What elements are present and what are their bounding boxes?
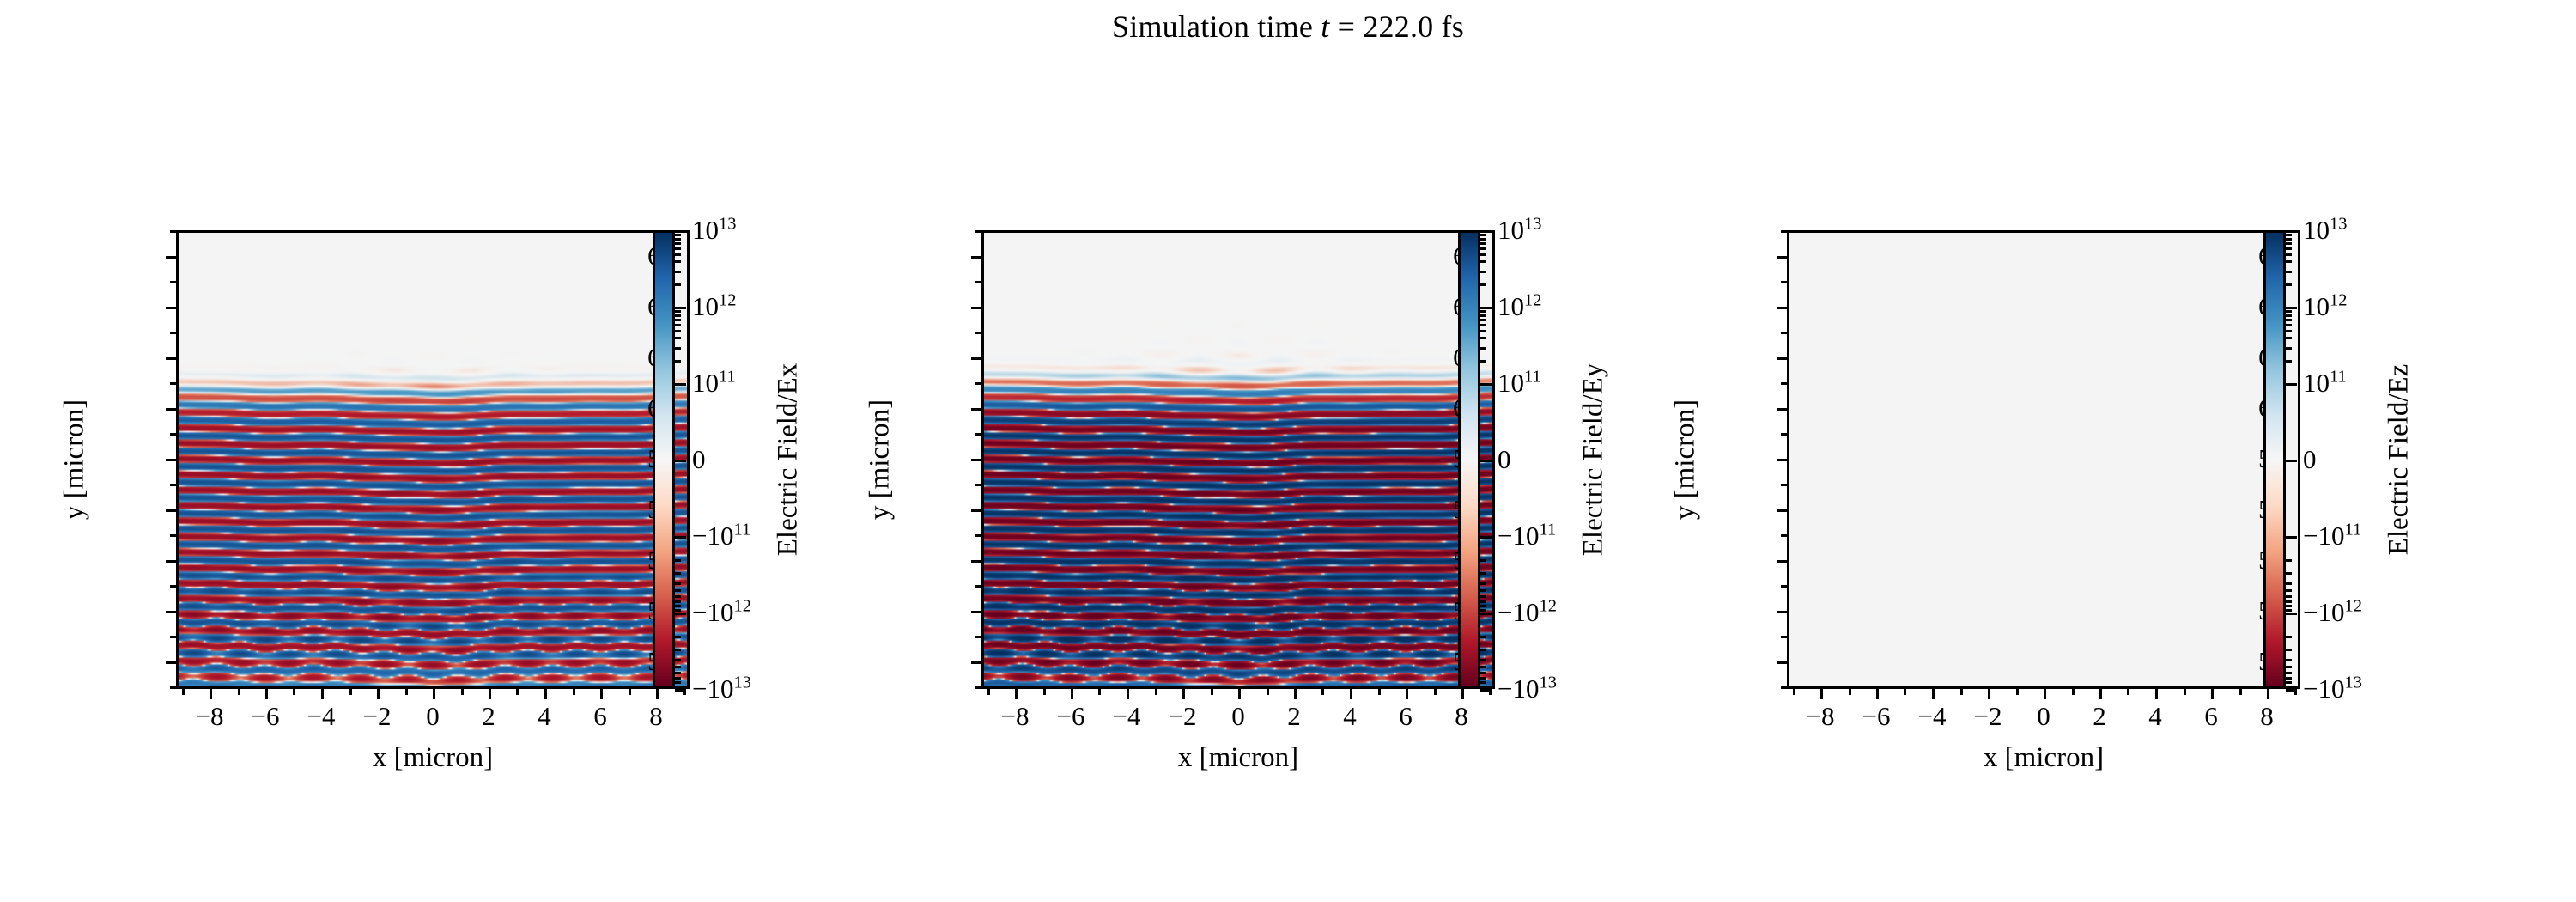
- colorbar-minor-tick-ez-40: [2286, 636, 2292, 638]
- y-tick-major-ey-0: [971, 256, 981, 259]
- colorbar-minor-tick-ey-22: [1480, 238, 1486, 241]
- colorbar-minor-tick-ez-17: [2286, 271, 2292, 273]
- colorbar-minor-tick-ez-22: [2286, 238, 2292, 241]
- colorbar-tick-label-ex-6: −1013: [692, 673, 751, 704]
- colorbar-minor-tick-ez-41: [2286, 649, 2292, 651]
- y-tick-minor-ey-61: [975, 382, 981, 385]
- colorbar-minor-tick-ez-3: [2286, 330, 2292, 332]
- colorbar-tick-ex-4: [675, 536, 686, 539]
- plot-panel-ex: 666462605856545250−8−6−4−202468x [micron…: [176, 230, 690, 689]
- colorbar-tick-label-ey-0: 1013: [1498, 215, 1541, 246]
- x-tick-minor-ey--1: [1211, 689, 1213, 695]
- x-tick-minor-ex-1: [461, 689, 464, 695]
- colorbar-minor-tick-ex-46: [675, 681, 681, 684]
- y-tick-major-ey-1: [971, 307, 981, 309]
- colorbar-tick-ex-0: [675, 230, 686, 233]
- colorbar-minor-tick-ex-45: [675, 677, 681, 680]
- colorbar-minor-tick-ey-1: [1480, 347, 1486, 350]
- x-tick-label-ez-3: −2: [1974, 701, 2002, 732]
- y-tick-minor-ez-53: [1781, 585, 1787, 588]
- y-axis-title-ez: y [micron]: [1670, 399, 1702, 520]
- colorbar-minor-tick-ez-45: [2286, 677, 2292, 680]
- colorbar-tick-label-ez-1: 1012: [2303, 291, 2347, 322]
- colorbar-minor-tick-ey-31: [1480, 609, 1486, 612]
- y-tick-major-ex-2: [166, 357, 176, 360]
- x-tick-label-ez-6: 4: [2148, 701, 2162, 732]
- colorbar-minor-tick-ez-20: [2286, 247, 2292, 250]
- colorbar-minor-tick-ex-4: [675, 324, 681, 326]
- x-tick-major-ey-7: [1406, 689, 1408, 699]
- axes-area-ex[interactable]: [176, 230, 690, 689]
- colorbar-tick-ez-4: [2286, 536, 2297, 539]
- colorbar-minor-tick-ez-16: [2286, 283, 2292, 286]
- colorbar-strip-ez: [2263, 230, 2286, 689]
- colorbar-minor-tick-ez-21: [2286, 242, 2292, 245]
- colorbar-tick-ey-2: [1480, 383, 1492, 386]
- colorbar-minor-tick-ey-20: [1480, 247, 1486, 250]
- y-tick-major-ez-5: [1777, 509, 1787, 512]
- y-tick-major-ez-4: [1777, 459, 1787, 461]
- y-tick-major-ez-6: [1777, 560, 1787, 563]
- colorbar-minor-tick-ez-31: [2286, 609, 2292, 612]
- colorbar-minor-tick-ez-43: [2286, 666, 2292, 668]
- colorbar-tick-label-ey-5: −1012: [1498, 597, 1557, 628]
- plot-panel-ez: 666462605856545250−8−6−4−202468x [micron…: [1787, 230, 2300, 689]
- x-tick-label-ex-5: 2: [482, 701, 495, 732]
- colorbar-minor-tick-ey-5: [1480, 319, 1486, 321]
- title-unit: fs: [1433, 9, 1464, 44]
- x-tick-major-ez-5: [2099, 689, 2102, 699]
- x-tick-minor-ex-3: [516, 689, 519, 695]
- colorbar-minor-tick-ey-28: [1480, 595, 1486, 598]
- x-axis-title-ex: x [micron]: [373, 742, 493, 774]
- x-tick-minor-ez-3: [2127, 689, 2129, 695]
- x-tick-minor-ez-7: [2239, 689, 2242, 695]
- x-tick-minor-ez--5: [1904, 689, 1906, 695]
- x-tick-major-ex-8: [656, 689, 659, 699]
- colorbar-tick-label-ex-2: 1011: [692, 368, 736, 399]
- y-axis-title-ex: y [micron]: [59, 399, 91, 520]
- x-tick-major-ez-6: [2155, 689, 2158, 699]
- x-tick-minor-ez--3: [1960, 689, 1963, 695]
- colorbar-minor-tick-ey-2: [1480, 337, 1486, 339]
- y-tick-minor-ey-49: [975, 686, 981, 689]
- x-tick-major-ey-1: [1071, 689, 1073, 699]
- x-tick-label-ey-6: 4: [1343, 701, 1357, 732]
- y-tick-minor-ex-49: [170, 686, 176, 689]
- colorbar-tick-ex-6: [675, 689, 686, 692]
- x-tick-minor-ey--3: [1155, 689, 1157, 695]
- y-tick-minor-ex-55: [170, 534, 176, 537]
- colorbar-minor-tick-ez-0: [2286, 360, 2292, 363]
- colorbar-minor-tick-ey-21: [1480, 242, 1486, 245]
- colorbar-minor-tick-ex-26: [675, 582, 681, 585]
- x-tick-minor-ex--5: [293, 689, 295, 695]
- colorbar-minor-tick-ey-46: [1480, 681, 1486, 684]
- x-tick-label-ez-5: 2: [2093, 701, 2106, 732]
- x-tick-major-ey-6: [1350, 689, 1352, 699]
- colorbar-minor-tick-ey-4: [1480, 324, 1486, 326]
- x-tick-label-ey-1: −6: [1057, 701, 1085, 732]
- colorbar-title-ez: Electric Field/Ez: [2384, 364, 2415, 556]
- x-tick-minor-ez--7: [1849, 689, 1851, 695]
- x-tick-major-ez-8: [2267, 689, 2269, 699]
- axes-area-ey[interactable]: [981, 230, 1495, 689]
- colorbar-minor-tick-ey-29: [1480, 600, 1486, 603]
- colorbar-minor-tick-ez-7: [2286, 310, 2292, 313]
- y-tick-major-ey-3: [971, 408, 981, 411]
- colorbar-minor-tick-ez-27: [2286, 589, 2292, 592]
- colorbar-minor-tick-ey-25: [1480, 572, 1486, 575]
- y-tick-minor-ez-51: [1781, 636, 1787, 638]
- y-tick-minor-ez-59: [1781, 433, 1787, 436]
- y-tick-minor-ez-61: [1781, 382, 1787, 385]
- colorbar-tick-label-ex-4: −1011: [692, 521, 750, 552]
- x-tick-minor-ex--7: [238, 689, 240, 695]
- x-tick-label-ey-5: 2: [1287, 701, 1301, 732]
- colorbar-minor-tick-ex-25: [675, 572, 681, 575]
- x-tick-minor-ey-3: [1321, 689, 1324, 695]
- x-tick-minor-ex--9: [182, 689, 185, 695]
- x-tick-label-ey-2: −4: [1113, 701, 1141, 732]
- x-tick-label-ex-7: 6: [593, 701, 607, 732]
- x-tick-major-ey-8: [1461, 689, 1464, 699]
- y-tick-major-ex-4: [166, 459, 176, 461]
- x-tick-major-ex-1: [265, 689, 268, 699]
- x-tick-minor-ex-5: [573, 689, 575, 695]
- colorbar-minor-tick-ey-27: [1480, 589, 1486, 592]
- colorbar-minor-tick-ez-5: [2286, 319, 2292, 321]
- x-tick-label-ex-6: 4: [538, 701, 551, 732]
- x-tick-major-ex-6: [544, 689, 547, 699]
- y-tick-minor-ex-57: [170, 484, 176, 486]
- colorbar-tick-label-ez-0: 1013: [2303, 215, 2347, 246]
- colorbar-minor-tick-ez-47: [2286, 686, 2292, 688]
- x-tick-minor-ey--9: [987, 689, 990, 695]
- colorbar-tick-label-ez-5: −1012: [2303, 597, 2362, 628]
- y-tick-minor-ey-57: [975, 484, 981, 486]
- figure-title: Simulation time t = 222.0 fs: [0, 9, 2576, 45]
- colorbar-minor-tick-ez-1: [2286, 347, 2292, 350]
- colorbar-minor-tick-ex-41: [675, 649, 681, 651]
- colorbar-tick-label-ex-1: 1012: [692, 291, 736, 322]
- x-tick-label-ez-0: −8: [1807, 701, 1835, 732]
- colorbar-tick-label-ey-4: −1011: [1498, 521, 1556, 552]
- colorbar-minor-tick-ez-28: [2286, 595, 2292, 598]
- colorbar-minor-tick-ex-17: [675, 271, 681, 273]
- y-tick-minor-ex-67: [170, 230, 176, 233]
- title-prefix: Simulation time: [1112, 9, 1321, 44]
- x-axis-title-ey: x [micron]: [1178, 742, 1298, 774]
- y-tick-major-ez-7: [1777, 611, 1787, 613]
- x-tick-minor-ez-1: [2072, 689, 2075, 695]
- colorbar-ex: 1013101210110−1011−1012−1013Electric Fie…: [653, 230, 675, 689]
- colorbar-minor-tick-ey-16: [1480, 283, 1486, 286]
- colorbar-minor-tick-ex-27: [675, 589, 681, 592]
- x-tick-major-ey-3: [1182, 689, 1185, 699]
- x-tick-label-ey-4: 0: [1231, 701, 1245, 732]
- colorbar-minor-tick-ex-20: [675, 247, 681, 250]
- colorbar-minor-tick-ey-45: [1480, 677, 1486, 680]
- x-tick-minor-ey-1: [1267, 689, 1269, 695]
- colorbar-minor-tick-ex-42: [675, 659, 681, 661]
- colorbar-tick-ey-6: [1480, 689, 1492, 692]
- x-tick-minor-ex-7: [629, 689, 631, 695]
- colorbar-minor-tick-ex-16: [675, 283, 681, 286]
- x-tick-major-ex-7: [600, 689, 603, 699]
- colorbar-tick-label-ex-5: −1012: [692, 597, 751, 628]
- x-tick-minor-ey--5: [1098, 689, 1101, 695]
- y-tick-major-ez-0: [1777, 256, 1787, 259]
- colorbar-tick-label-ex-3: 0: [692, 444, 706, 475]
- colorbar-minor-tick-ex-2: [675, 337, 681, 339]
- y-tick-minor-ez-55: [1781, 534, 1787, 537]
- colorbar-minor-tick-ez-26: [2286, 582, 2292, 585]
- y-tick-minor-ey-63: [975, 332, 981, 334]
- x-tick-major-ex-2: [321, 689, 324, 699]
- colorbar-minor-tick-ey-44: [1480, 672, 1486, 674]
- x-tick-label-ex-2: −4: [307, 701, 336, 732]
- x-tick-major-ez-0: [1820, 689, 1823, 699]
- y-tick-major-ez-3: [1777, 408, 1787, 411]
- colorbar-title-ey: Electric Field/Ey: [1578, 363, 1610, 557]
- x-tick-label-ez-7: 6: [2204, 701, 2218, 732]
- title-equals: =: [1329, 9, 1363, 44]
- y-tick-minor-ex-53: [170, 585, 176, 588]
- x-tick-major-ez-1: [1876, 689, 1879, 699]
- colorbar-minor-tick-ez-29: [2286, 600, 2292, 603]
- colorbar-minor-tick-ey-41: [1480, 649, 1486, 651]
- y-tick-minor-ez-67: [1781, 230, 1787, 233]
- y-tick-minor-ey-51: [975, 636, 981, 638]
- x-tick-major-ey-4: [1238, 689, 1241, 699]
- colorbar-tick-ez-5: [2286, 613, 2297, 615]
- y-tick-major-ey-2: [971, 357, 981, 360]
- colorbar-minor-tick-ez-18: [2286, 260, 2292, 263]
- colorbar-minor-tick-ey-47: [1480, 686, 1486, 688]
- colorbar-minor-tick-ez-4: [2286, 324, 2292, 326]
- y-tick-major-ey-4: [971, 459, 981, 461]
- y-tick-minor-ez-57: [1781, 484, 1787, 486]
- y-tick-minor-ez-49: [1781, 686, 1787, 689]
- y-tick-minor-ex-63: [170, 332, 176, 334]
- x-tick-major-ez-3: [1988, 689, 1990, 699]
- y-tick-major-ez-8: [1777, 661, 1787, 664]
- y-tick-major-ey-8: [971, 661, 981, 664]
- x-tick-minor-ez--1: [2016, 689, 2019, 695]
- colorbar-tick-label-ey-3: 0: [1498, 444, 1511, 475]
- colorbar-strip-ex: [653, 230, 675, 689]
- field-heatmap-ez: [1789, 233, 2298, 686]
- y-tick-minor-ey-55: [975, 534, 981, 537]
- colorbar-minor-tick-ex-31: [675, 609, 681, 612]
- colorbar-minor-tick-ex-30: [675, 605, 681, 607]
- colorbar-minor-tick-ey-43: [1480, 666, 1486, 668]
- x-tick-major-ez-4: [2044, 689, 2046, 699]
- x-tick-minor-ez-5: [2184, 689, 2186, 695]
- y-tick-major-ex-1: [166, 307, 176, 309]
- y-tick-major-ez-1: [1777, 307, 1787, 309]
- x-tick-label-ey-0: −8: [1001, 701, 1030, 732]
- colorbar-minor-tick-ez-25: [2286, 572, 2292, 575]
- colorbar-minor-tick-ey-19: [1480, 253, 1486, 256]
- colorbar-minor-tick-ex-29: [675, 600, 681, 603]
- colorbar-minor-tick-ez-30: [2286, 605, 2292, 607]
- x-tick-major-ex-4: [433, 689, 435, 699]
- colorbar-tick-ex-3: [675, 460, 686, 462]
- colorbar-strip-ey: [1458, 230, 1480, 689]
- field-heatmap-ex: [179, 233, 687, 686]
- x-tick-label-ez-8: 8: [2260, 701, 2274, 732]
- colorbar-minor-tick-ey-0: [1480, 360, 1486, 363]
- colorbar-minor-tick-ey-24: [1480, 559, 1486, 562]
- colorbar-minor-tick-ey-23: [1480, 234, 1486, 236]
- y-tick-major-ey-6: [971, 560, 981, 563]
- colorbar-tick-ey-4: [1480, 536, 1492, 539]
- colorbar-minor-tick-ex-28: [675, 595, 681, 598]
- x-tick-major-ey-0: [1015, 689, 1018, 699]
- colorbar-tick-label-ez-2: 1011: [2303, 368, 2347, 399]
- x-tick-minor-ez--9: [1793, 689, 1795, 695]
- y-tick-minor-ez-63: [1781, 332, 1787, 334]
- x-tick-label-ey-3: −2: [1169, 701, 1197, 732]
- colorbar-minor-tick-ex-5: [675, 319, 681, 321]
- x-axis-title-ez: x [micron]: [1984, 742, 2104, 774]
- colorbar-tick-ez-3: [2286, 460, 2297, 462]
- x-tick-major-ex-0: [210, 689, 212, 699]
- x-tick-label-ex-3: −2: [363, 701, 392, 732]
- x-tick-label-ex-8: 8: [649, 701, 663, 732]
- title-value: 222.0: [1363, 9, 1433, 44]
- y-tick-major-ex-0: [166, 256, 176, 259]
- x-tick-label-ez-1: −6: [1862, 701, 1891, 732]
- colorbar-minor-tick-ex-0: [675, 360, 681, 363]
- colorbar-minor-tick-ex-22: [675, 238, 681, 241]
- x-tick-label-ex-0: −8: [196, 701, 224, 732]
- x-tick-label-ex-4: 0: [426, 701, 440, 732]
- colorbar-minor-tick-ex-6: [675, 314, 681, 317]
- y-tick-minor-ex-51: [170, 636, 176, 638]
- y-tick-major-ey-7: [971, 611, 981, 613]
- colorbar-gradient-ex: [655, 233, 672, 686]
- plot-panel-ey: 666462605856545250−8−6−4−202468x [micron…: [981, 230, 1495, 689]
- colorbar-minor-tick-ex-18: [675, 260, 681, 263]
- x-tick-minor-ey--7: [1043, 689, 1046, 695]
- colorbar-minor-tick-ez-24: [2286, 559, 2292, 562]
- colorbar-minor-tick-ex-23: [675, 234, 681, 236]
- colorbar-minor-tick-ey-40: [1480, 636, 1486, 638]
- colorbar-minor-tick-ex-19: [675, 253, 681, 256]
- colorbar-minor-tick-ey-7: [1480, 310, 1486, 313]
- y-tick-minor-ex-61: [170, 382, 176, 385]
- colorbar-minor-tick-ez-19: [2286, 253, 2292, 256]
- colorbar-tick-label-ez-4: −1011: [2303, 521, 2361, 552]
- y-tick-minor-ex-65: [170, 281, 176, 283]
- colorbar-tick-label-ez-3: 0: [2303, 444, 2317, 475]
- y-tick-minor-ez-65: [1781, 281, 1787, 283]
- x-tick-label-ey-8: 8: [1455, 701, 1468, 732]
- colorbar-minor-tick-ex-21: [675, 242, 681, 245]
- colorbar-tick-label-ey-6: −1013: [1498, 673, 1557, 704]
- colorbar-minor-tick-ez-2: [2286, 337, 2292, 339]
- y-tick-minor-ex-59: [170, 433, 176, 436]
- colorbar-minor-tick-ez-6: [2286, 314, 2292, 317]
- colorbar-minor-tick-ey-26: [1480, 582, 1486, 585]
- x-tick-label-ey-7: 6: [1399, 701, 1413, 732]
- colorbar-minor-tick-ey-3: [1480, 330, 1486, 332]
- figure-root: Simulation time t = 222.0 fs 66646260585…: [0, 0, 2576, 902]
- axes-area-ez[interactable]: [1787, 230, 2300, 689]
- colorbar-tick-ez-1: [2286, 307, 2297, 309]
- colorbar-minor-tick-ex-1: [675, 347, 681, 350]
- colorbar-minor-tick-ey-17: [1480, 271, 1486, 273]
- x-tick-minor-ex--3: [349, 689, 352, 695]
- colorbar-minor-tick-ez-42: [2286, 659, 2292, 661]
- y-tick-major-ex-3: [166, 408, 176, 411]
- y-tick-minor-ey-59: [975, 433, 981, 436]
- colorbar-tick-label-ez-6: −1013: [2303, 673, 2362, 704]
- colorbar-tick-ey-0: [1480, 230, 1492, 233]
- colorbar-minor-tick-ez-23: [2286, 234, 2292, 236]
- x-tick-major-ez-2: [1932, 689, 1935, 699]
- y-tick-minor-ey-65: [975, 281, 981, 283]
- colorbar-tick-ey-1: [1480, 307, 1492, 309]
- x-tick-minor-ey-7: [1434, 689, 1437, 695]
- title-variable: t: [1321, 9, 1329, 44]
- x-tick-major-ex-5: [489, 689, 491, 699]
- x-tick-major-ez-7: [2211, 689, 2214, 699]
- x-tick-minor-ey-5: [1378, 689, 1381, 695]
- colorbar-gradient-ez: [2266, 233, 2283, 686]
- colorbar-gradient-ey: [1461, 233, 1478, 686]
- colorbar-tick-label-ex-0: 1013: [692, 215, 736, 246]
- x-tick-label-ex-1: −6: [252, 701, 280, 732]
- y-tick-major-ex-6: [166, 560, 176, 563]
- colorbar-tick-ez-2: [2286, 383, 2297, 386]
- colorbar-minor-tick-ey-42: [1480, 659, 1486, 661]
- x-tick-minor-ex--1: [405, 689, 408, 695]
- colorbar-tick-ey-5: [1480, 613, 1492, 615]
- colorbar-tick-ex-5: [675, 613, 686, 615]
- colorbar-tick-label-ey-2: 1011: [1498, 368, 1541, 399]
- y-tick-minor-ey-53: [975, 585, 981, 588]
- x-tick-label-ez-2: −4: [1918, 701, 1947, 732]
- y-tick-major-ex-8: [166, 661, 176, 664]
- colorbar-tick-ey-3: [1480, 460, 1492, 462]
- y-tick-major-ex-5: [166, 509, 176, 512]
- colorbar-tick-ex-2: [675, 383, 686, 386]
- colorbar-minor-tick-ey-30: [1480, 605, 1486, 607]
- y-tick-major-ez-2: [1777, 357, 1787, 360]
- colorbar-minor-tick-ex-24: [675, 559, 681, 562]
- colorbar-minor-tick-ez-44: [2286, 672, 2292, 674]
- x-tick-major-ey-2: [1127, 689, 1129, 699]
- colorbar-minor-tick-ey-18: [1480, 260, 1486, 263]
- colorbar-tick-label-ey-1: 1012: [1498, 291, 1541, 322]
- y-tick-minor-ey-67: [975, 230, 981, 233]
- colorbar-title-ex: Electric Field/Ex: [773, 363, 805, 557]
- colorbar-minor-tick-ex-7: [675, 310, 681, 313]
- y-tick-major-ey-5: [971, 509, 981, 512]
- field-heatmap-ey: [984, 233, 1492, 686]
- x-tick-major-ex-3: [377, 689, 380, 699]
- x-tick-label-ez-4: 0: [2037, 701, 2050, 732]
- colorbar-minor-tick-ex-47: [675, 686, 681, 688]
- colorbar-tick-ez-0: [2286, 230, 2297, 233]
- colorbar-ez: 1013101210110−1011−1012−1013Electric Fie…: [2263, 230, 2286, 689]
- colorbar-ey: 1013101210110−1011−1012−1013Electric Fie…: [1458, 230, 1480, 689]
- y-axis-title-ey: y [micron]: [865, 399, 896, 520]
